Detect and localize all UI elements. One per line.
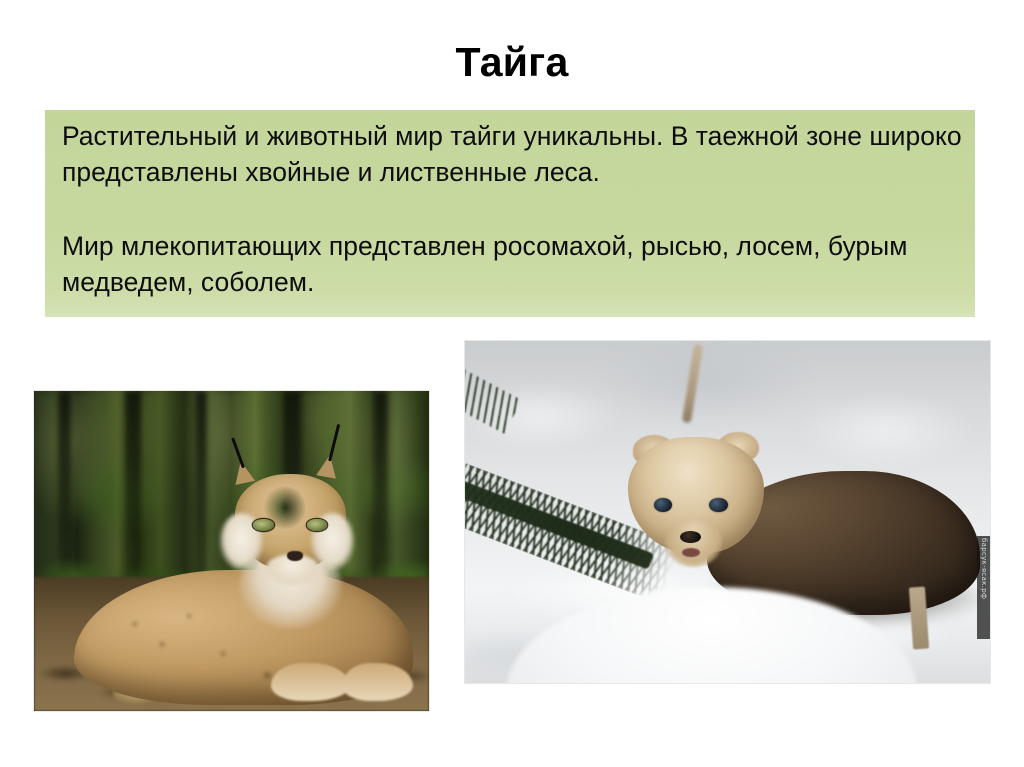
sable-eye-right bbox=[709, 498, 727, 512]
content-paragraph-1: Растительный и животный мир тайги уникал… bbox=[62, 119, 965, 190]
lynx-front-paw bbox=[271, 663, 350, 701]
photo-watermark-text: барсук-ясак.рф bbox=[979, 538, 988, 599]
sable-photo: барсук-ясак.рф bbox=[464, 340, 991, 684]
lynx-photo bbox=[33, 390, 430, 712]
page-title: Тайга bbox=[0, 38, 1024, 87]
sable-mouth bbox=[682, 548, 700, 557]
lynx-eye-left bbox=[253, 519, 274, 531]
lynx-nose bbox=[287, 551, 303, 561]
photo-watermark: барсук-ясак.рф bbox=[977, 536, 990, 639]
lynx-front-paw bbox=[342, 663, 413, 701]
slide-canvas: { "slide": { "title": "Тайга", "backgrou… bbox=[0, 0, 1024, 767]
lynx-eye-right bbox=[307, 519, 328, 531]
content-paragraph-2: Мир млекопитающих представлен росомахой,… bbox=[62, 229, 965, 300]
content-text-box: Растительный и животный мир тайги уникал… bbox=[45, 110, 975, 317]
